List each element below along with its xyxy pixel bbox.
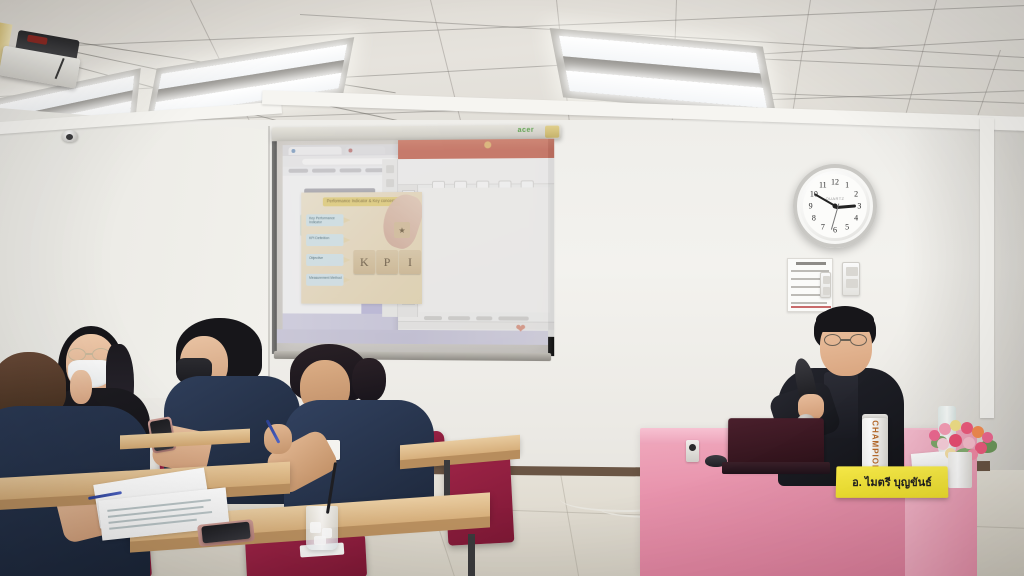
clock-numeral-8: 8 (812, 214, 816, 223)
slide-bullet-4: Measurement Method (306, 274, 343, 286)
laptop-keyboard[interactable] (722, 462, 830, 474)
slide-bullet-3: Objective (306, 254, 343, 266)
kpi-block-k: K (353, 250, 375, 274)
instructor-glasses-left (824, 334, 841, 346)
clock-numeral-6: 6 (833, 226, 837, 235)
clock-center-pin (833, 204, 838, 209)
table-leg-2 (468, 534, 475, 576)
slide-bullet-2: KPI Definition (306, 234, 343, 246)
clock-numeral-9: 9 (809, 202, 813, 211)
nameplate-text: อ. ไมตรี บุญขันธ์ (836, 466, 949, 498)
instructor-glasses-right (850, 334, 867, 346)
clock-face: 12 1 2 3 4 5 6 7 8 9 10 11 QUARTZ (803, 174, 867, 238)
kpi-block-i: I (399, 250, 421, 274)
screen-housing-end (545, 126, 559, 138)
slide-bullet-2-text: KPI Definition (309, 236, 341, 240)
clock-numeral-3: 3 (857, 202, 861, 211)
document-camera (686, 440, 699, 462)
clock-numeral-5: 5 (845, 223, 849, 232)
slide-bullet-1: Key Performance Indicator (306, 214, 343, 226)
wall-clock: 12 1 2 3 4 5 6 7 8 9 10 11 QUARTZ (793, 164, 877, 248)
ppt-ribbon[interactable] (398, 158, 554, 185)
acer-logo: acer (518, 127, 535, 134)
instructor-nameplate: อ. ไมตรี บุญขันธ์ (836, 466, 949, 498)
ppt-slide-stage (419, 187, 550, 312)
iced-drink-cup (306, 506, 338, 550)
slide-title-text: Performance Indicator & Key concept (327, 198, 396, 203)
slide-bullet-1-text: Key Performance Indicator (309, 216, 341, 224)
hand-wooden-block (394, 222, 410, 238)
security-camera-icon (62, 130, 78, 142)
instructor-hair-top (816, 308, 874, 332)
clock-numeral-11: 11 (819, 180, 827, 189)
slide-bullet-3-text: Objective (309, 256, 341, 260)
heart-icon: ❤ (515, 322, 525, 336)
ppt-current-slide: Performance Indicator & Key concept Key … (301, 192, 422, 304)
wall-switch-plate-2[interactable] (842, 262, 860, 296)
flower-vase (948, 452, 972, 488)
clock-numeral-4: 4 (854, 214, 858, 223)
tumbler-label: CHAMPION (871, 420, 880, 472)
tumbler-bottle: CHAMPION (862, 418, 888, 473)
slide-bullet-4-text: Measurement Method (309, 276, 341, 280)
clock-numeral-12: 12 (831, 177, 839, 186)
clock-numeral-7: 7 (821, 223, 825, 232)
p4-hair-bun (352, 358, 386, 402)
clock-numeral-1: 1 (845, 180, 849, 189)
photo-scene: acer (0, 0, 1024, 576)
clock-numeral-2: 2 (854, 189, 858, 198)
wall-switch-plate-1[interactable] (820, 272, 831, 298)
kpi-block-p: P (376, 250, 398, 274)
ppt-status-bar (398, 321, 554, 330)
ceiling-projector (0, 20, 91, 97)
ceiling-trim-corner (980, 118, 994, 418)
